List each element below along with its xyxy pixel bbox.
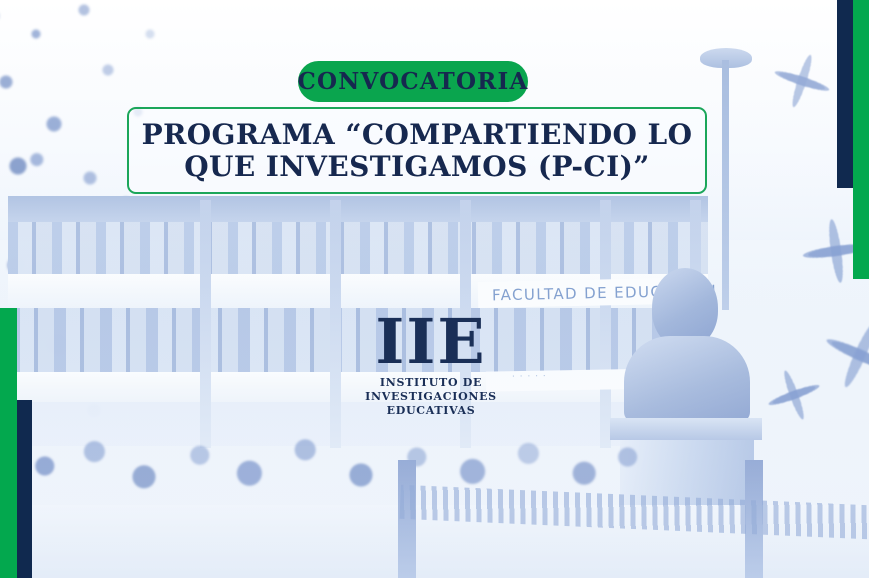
navy-bar-top-right: [837, 0, 854, 188]
building-column: [600, 200, 611, 448]
program-title-line-2: QUE INVESTIGAMOS (P-CI)”: [184, 151, 650, 182]
building-column: [200, 200, 211, 448]
bust-statue-shoulders: [624, 336, 750, 422]
green-bar-bottom-left: [0, 308, 17, 578]
program-title-box: PROGRAMA “COMPARTIENDO LO QUE INVESTIGAM…: [127, 107, 707, 194]
iie-logo-subtitle-line-2: INVESTIGACIONES: [330, 390, 532, 404]
iie-logo-subtitle: INSTITUTO DE INVESTIGACIONES EDUCATIVAS: [330, 376, 532, 418]
green-bar-top-right: [853, 0, 869, 279]
convocatoria-badge: CONVOCATORIA: [298, 61, 528, 102]
navy-bar-bottom-left: [17, 400, 32, 578]
iie-logo-subtitle-line-1: INSTITUTO DE: [330, 376, 532, 390]
program-title-line-1: PROGRAMA “COMPARTIENDO LO: [142, 119, 693, 150]
street-lamp-pole: [722, 60, 729, 310]
convocatoria-badge-label: CONVOCATORIA: [298, 68, 529, 95]
iie-logo-mark: IIE: [330, 312, 532, 372]
iie-logo-subtitle-line-3: EDUCATIVAS: [330, 404, 532, 418]
convocatoria-poster: FACULTAD DE EDUCACIÓN · · · · · CONVOCAT…: [0, 0, 869, 578]
iie-logo: IIE INSTITUTO DE INVESTIGACIONES EDUCATI…: [330, 312, 532, 418]
